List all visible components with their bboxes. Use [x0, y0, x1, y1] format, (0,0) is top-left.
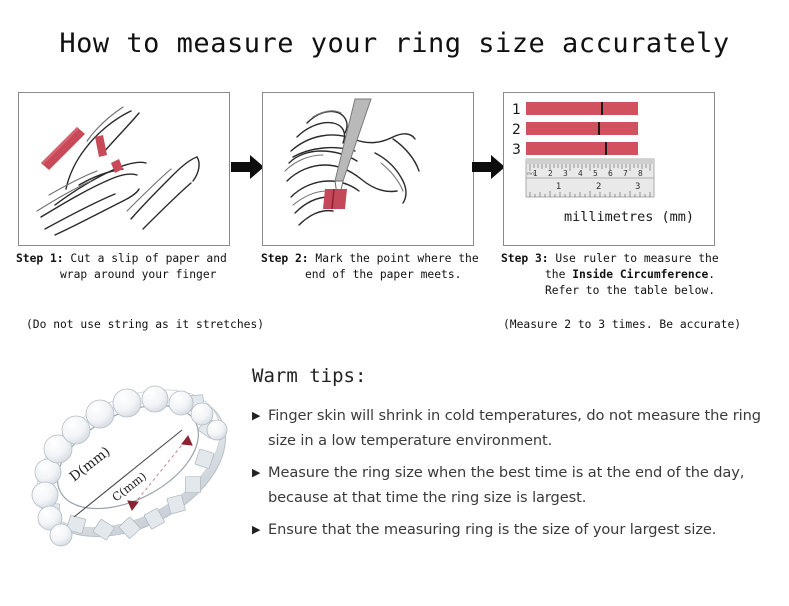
svg-text:8: 8 — [638, 169, 643, 178]
measured-paper-strips — [526, 102, 638, 155]
step-1-line1: Cut a slip of paper and — [64, 252, 227, 265]
svg-text:3: 3 — [563, 169, 568, 178]
step-3-line2-tail: . — [708, 268, 715, 281]
tip-text: Finger skin will shrink in cold temperat… — [268, 403, 772, 453]
strip-label-3: 3 — [512, 142, 521, 158]
ring-size-guide-page: How to measure your ring size accurately — [0, 0, 789, 606]
strip-label-1: 1 — [512, 102, 521, 118]
paper-slip-red — [41, 127, 85, 170]
svg-text:mm: mm — [527, 171, 535, 176]
tip-item: ▶ Measure the ring size when the best ti… — [252, 460, 772, 510]
hand-marking-paper-illustration — [263, 93, 473, 245]
step-1-label: Step 1: — [16, 252, 64, 265]
warm-tips-section: Warm tips: ▶ Finger skin will shrink in … — [252, 365, 772, 549]
tip-item: ▶ Ensure that the measuring ring is the … — [252, 517, 772, 542]
bullet-triangle-icon: ▶ — [252, 517, 268, 542]
ring-dimension-figure: D(mm) C(mm) — [14, 352, 250, 578]
svg-text:5: 5 — [593, 169, 598, 178]
paper-band-on-finger — [95, 135, 123, 173]
steel-ruler: 123 456 78 mm 123 — [526, 159, 654, 197]
svg-text:1: 1 — [556, 182, 561, 192]
bullet-triangle-icon: ▶ — [252, 460, 268, 485]
step-3-label: Step 3: — [501, 252, 549, 265]
bullet-triangle-icon: ▶ — [252, 403, 268, 428]
tip-text: Measure the ring size when the best time… — [268, 460, 772, 510]
hand-with-paper-strip-illustration — [19, 93, 229, 245]
svg-text:3: 3 — [635, 182, 640, 192]
step-2-illustration-panel — [262, 92, 474, 246]
tip-item: ▶ Finger skin will shrink in cold temper… — [252, 403, 772, 453]
svg-text:2: 2 — [548, 169, 553, 178]
svg-text:6: 6 — [608, 169, 613, 178]
step-2-label: Step 2: — [261, 252, 309, 265]
step-1-caption: Step 1: Cut a slip of paper and wrap aro… — [16, 251, 252, 283]
inside-circumference-emphasis: Inside Circumference — [572, 268, 708, 281]
step-3-line2: the Inside Circumference. — [501, 267, 766, 283]
step-1-line2: wrap around your finger — [16, 267, 252, 283]
svg-text:4: 4 — [578, 169, 583, 178]
step-3-note: (Measure 2 to 3 times. Be accurate) — [503, 318, 741, 331]
svg-text:2: 2 — [596, 182, 601, 192]
step-3-illustration-panel: 1 2 3 — [503, 92, 715, 246]
step-3-line2-prefix: the — [545, 268, 572, 281]
step-2-line2: end of the paper meets. — [261, 267, 501, 283]
step-2-line1: Mark the point where the — [309, 252, 479, 265]
arrow-step2-to-step3-icon — [471, 152, 507, 182]
svg-text:7: 7 — [623, 169, 628, 178]
step-3-caption: Step 3: Use ruler to measure the the Ins… — [501, 251, 766, 299]
tip-text: Ensure that the measuring ring is the si… — [268, 517, 716, 542]
warm-tips-heading: Warm tips: — [252, 365, 772, 387]
step-1-illustration-panel — [18, 92, 230, 246]
arrow-step1-to-step2-icon — [230, 152, 266, 182]
step-3-line1: Use ruler to measure the — [549, 252, 719, 265]
strip-label-2: 2 — [512, 122, 521, 138]
step-2-caption: Step 2: Mark the point where the end of … — [261, 251, 501, 283]
ruler-with-paper-strips-illustration: 1 2 3 — [504, 93, 714, 245]
step-1-note: (Do not use string as it stretches) — [26, 318, 264, 331]
ruler-unit-caption: millimetres (mm) — [564, 209, 694, 225]
step-3-line3: Refer to the table below. — [501, 283, 766, 299]
page-title: How to measure your ring size accurately — [0, 28, 789, 59]
paper-band-red — [323, 189, 347, 209]
